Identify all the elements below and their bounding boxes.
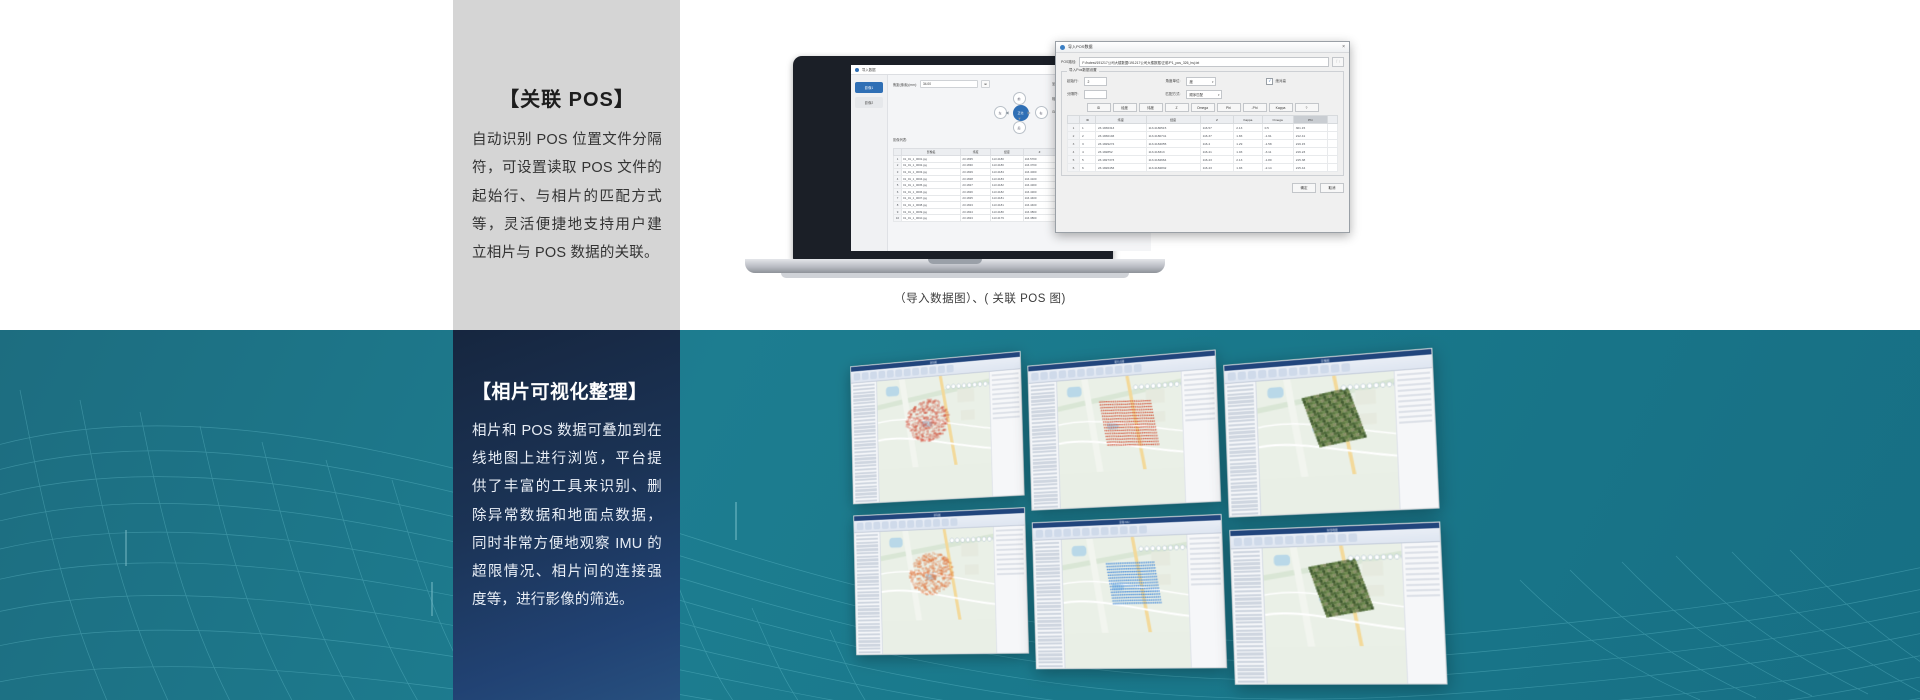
- screenshot-panel-image-imu-map: 影像 IMU: [1032, 514, 1227, 669]
- list-row: [859, 647, 881, 649]
- pos-table-body: 1123.1836313113.4180515116.572.130.5301.…: [1068, 124, 1338, 172]
- panel-properties[interactable]: [1186, 533, 1226, 668]
- list-row: [1232, 512, 1259, 516]
- panel-properties[interactable]: [1181, 369, 1220, 504]
- toolbar-button[interactable]: [862, 372, 869, 380]
- list-row: [856, 545, 878, 548]
- list-row: [857, 552, 879, 555]
- table-row[interactable]: 2223.1830193113.4180741116.371.83-1.9121…: [1068, 132, 1338, 140]
- absolute-height-label: 绝对高: [1275, 79, 1286, 84]
- screenshot-panel-image-map: 影像图: [1223, 348, 1439, 518]
- list-row: [855, 499, 877, 502]
- toolbar-button[interactable]: [1054, 529, 1062, 537]
- toolbar-button[interactable]: [1254, 537, 1263, 546]
- toolbar-button[interactable]: [1238, 371, 1246, 380]
- panel-properties[interactable]: [989, 369, 1024, 497]
- toolbar-button[interactable]: [1139, 525, 1147, 533]
- list-row: [996, 533, 1023, 536]
- list-row: [1031, 406, 1055, 410]
- toolbar-button[interactable]: [870, 371, 877, 379]
- pos-path-row: POS路径: F:/hotest/191217公司大楼数据/191217公司大楼…: [1061, 57, 1344, 67]
- toolbar-button[interactable]: [1045, 529, 1053, 537]
- table-row[interactable]: 3323.1829274113.4184055116.41.29-1.58219…: [1068, 140, 1338, 148]
- list-row: [992, 401, 1019, 405]
- chevron-down-icon-2: ▾: [1218, 93, 1220, 97]
- toolbar-button[interactable]: [857, 522, 864, 530]
- pos-table-col[interactable]: [1068, 116, 1080, 124]
- pos-description: 自动识别 POS 位置文件分隔符，可设置读取 POS 文件的起始行、与相片的匹配…: [472, 126, 662, 267]
- list-row: [857, 559, 879, 562]
- column-assign-button[interactable]: ID: [1087, 103, 1111, 112]
- table-row[interactable]: 1123.1836313113.4180515116.572.130.5301.…: [1068, 124, 1338, 132]
- list-row: [855, 482, 877, 485]
- list-row: [1228, 411, 1254, 415]
- list-row: [856, 537, 878, 540]
- toolbar-button[interactable]: [1228, 372, 1236, 381]
- list-row: [1237, 661, 1264, 664]
- import-pos-dialog[interactable]: 导入POS数据 × POS路径: F:/hotest/191217公司大楼数据/…: [1055, 41, 1350, 233]
- pos-caption-text: （导入数据图）、( 关联 POS 图): [894, 290, 1066, 306]
- toolbar-button[interactable]: [950, 518, 957, 526]
- toolbar-button[interactable]: [865, 522, 872, 530]
- list-row: [1184, 377, 1214, 382]
- compass-right-button[interactable]: 右: [1035, 106, 1048, 119]
- panel-area: [854, 526, 1028, 656]
- list-row: [858, 615, 880, 618]
- visual-description: 相片和 POS 数据可叠加到在线地图上进行浏览，平台提供了丰富的工具来识别、删除…: [472, 417, 662, 615]
- toolbar-button[interactable]: [1063, 529, 1071, 537]
- list-row: [1229, 446, 1255, 450]
- panel-map-view[interactable]: [1062, 535, 1191, 669]
- app-window-title: 导入数据: [862, 67, 876, 72]
- toolbar-button[interactable]: [1244, 537, 1252, 546]
- list-row: [1237, 653, 1264, 656]
- list-row: [858, 633, 880, 636]
- list-row: [1234, 586, 1261, 589]
- toolbar-button[interactable]: [1258, 370, 1266, 379]
- image-table-col[interactable]: 纬度: [961, 149, 991, 156]
- pos-table-col[interactable]: Kappa: [1234, 116, 1262, 124]
- toolbar-button[interactable]: [1049, 371, 1057, 379]
- list-row: [1397, 382, 1430, 387]
- page-title: 【关联 POS】: [472, 88, 662, 112]
- list-row: [1230, 473, 1257, 477]
- toolbar-button[interactable]: [1338, 534, 1347, 543]
- toolbar-button[interactable]: [1320, 365, 1329, 374]
- list-row: [993, 415, 1020, 419]
- list-row: [1237, 672, 1264, 675]
- list-row: [1229, 430, 1255, 434]
- list-row: [1235, 617, 1262, 620]
- chevron-down-icon: ▾: [1212, 80, 1214, 84]
- list-row: [1038, 627, 1062, 630]
- toolbar-button[interactable]: [924, 519, 931, 527]
- pos-table-header-row: ID纬度经度ZKappaOmegaPhi: [1068, 116, 1338, 124]
- absolute-height-checkbox[interactable]: ✓ 绝对高: [1266, 78, 1286, 85]
- list-row: [1039, 665, 1063, 668]
- panel-properties[interactable]: [1401, 542, 1446, 685]
- column-assign-button[interactable]: Phi: [1217, 103, 1241, 112]
- list-row: [1035, 549, 1059, 552]
- list-row: [996, 548, 1023, 551]
- list-row: [1234, 574, 1261, 577]
- column-assign-button[interactable]: Kappa: [1269, 103, 1293, 112]
- list-row: [1034, 502, 1058, 506]
- screenshot-panel-footprint-map: 脚印图: [850, 351, 1024, 504]
- list-row: [1037, 624, 1061, 627]
- list-row: [1238, 680, 1265, 683]
- toolbar-button[interactable]: [1031, 372, 1038, 380]
- pos-caption: （导入数据图）、( 关联 POS 图): [0, 290, 1920, 306]
- list-row: [1405, 562, 1439, 566]
- panel-title: 曝光点图: [1114, 359, 1124, 364]
- list-row: [1237, 649, 1264, 652]
- table-row[interactable]: 4423.182852113.418313116.411.03-3.11216.…: [1068, 148, 1338, 156]
- toolbar-button[interactable]: [921, 367, 928, 375]
- list-row: [1033, 472, 1057, 476]
- image-table-col[interactable]: 经度: [990, 149, 1023, 156]
- toolbar-button[interactable]: [1086, 368, 1094, 376]
- toolbar-button[interactable]: [929, 366, 936, 374]
- toolbar-button[interactable]: [1082, 528, 1090, 536]
- list-row: [1232, 508, 1259, 512]
- list-row: [1190, 547, 1220, 551]
- list-row: [1237, 665, 1264, 668]
- list-row: [993, 406, 1020, 410]
- toolbar-button[interactable]: [1327, 534, 1336, 543]
- toolbar-button[interactable]: [1101, 527, 1109, 535]
- list-row: [1230, 477, 1257, 481]
- visual-text-block: 【相片可视化整理】 相片和 POS 数据可叠加到在线地图上进行浏览，平台提供了丰…: [472, 382, 662, 615]
- pos-settings-legend: 导入Pos数据设置: [1067, 68, 1099, 73]
- list-row: [1185, 397, 1215, 402]
- toolbar-button[interactable]: [1124, 365, 1132, 374]
- panel-image-list[interactable]: [1231, 548, 1268, 684]
- list-row: [996, 538, 1023, 541]
- list-row: [1399, 419, 1432, 424]
- list-row: [1398, 403, 1431, 408]
- toolbar-button[interactable]: [916, 520, 923, 528]
- list-row: [1235, 601, 1262, 604]
- toolbar-button[interactable]: [1091, 527, 1099, 535]
- pos-path-input[interactable]: F:/hotest/191217公司大楼数据/191217公司大楼数据/正射/P…: [1079, 57, 1329, 67]
- list-row: [1234, 582, 1261, 585]
- list-row: [1236, 645, 1263, 648]
- toolbar-button[interactable]: [1129, 526, 1137, 534]
- list-row: [992, 377, 1019, 382]
- toolbar-button[interactable]: [1289, 367, 1298, 376]
- dialog-titlebar: 导入POS数据 ×: [1056, 42, 1349, 53]
- column-assign-button[interactable]: Z: [1165, 103, 1189, 112]
- list-row: [1191, 577, 1221, 580]
- toolbar-button[interactable]: [899, 520, 906, 528]
- list-row: [1184, 392, 1214, 397]
- toolbar-button[interactable]: [1341, 363, 1350, 372]
- list-row: [1038, 646, 1062, 649]
- toolbar-button[interactable]: [1316, 535, 1325, 544]
- list-row: [1037, 601, 1061, 604]
- list-row: [1230, 458, 1257, 462]
- list-row: [1037, 616, 1061, 619]
- angle-unit-select[interactable]: 度 ▾: [1186, 77, 1216, 86]
- panel-image-list[interactable]: [851, 381, 879, 504]
- list-row: [1036, 557, 1060, 560]
- toolbar-button[interactable]: [912, 368, 919, 376]
- toolbar-button[interactable]: [1278, 368, 1287, 377]
- toolbar-button[interactable]: [1073, 528, 1081, 536]
- list-row: [1038, 654, 1062, 657]
- settings-row-1: 起始行: 2 角度单位: 度 ▾ ✓ 绝对高: [1067, 77, 1338, 86]
- list-row: [1236, 637, 1263, 640]
- panel-properties[interactable]: [1394, 368, 1439, 510]
- toolbar-button[interactable]: [1306, 535, 1315, 544]
- panel-area: [1033, 533, 1226, 669]
- list-row: [996, 543, 1023, 546]
- list-row: [997, 563, 1024, 566]
- toolbar-button[interactable]: [1348, 533, 1357, 542]
- screenshot-panel-image-footprint-dense: 脚印图: [853, 507, 1029, 655]
- list-row: [1231, 493, 1258, 497]
- list-row: [1406, 583, 1440, 586]
- list-row: [1036, 579, 1060, 582]
- sidebar-item-image2[interactable]: 影像2: [855, 97, 883, 108]
- list-row: [1191, 572, 1221, 575]
- toolbar-button[interactable]: [1299, 366, 1308, 375]
- panel-map-view[interactable]: [877, 372, 992, 503]
- toolbar-button[interactable]: [1285, 536, 1294, 545]
- panel-title: 脚印图: [930, 360, 937, 364]
- list-row: [857, 555, 879, 558]
- list-row: [1184, 382, 1214, 387]
- column-assign-button[interactable]: -Phi: [1243, 103, 1267, 112]
- list-row: [1037, 609, 1061, 612]
- list-row: [1190, 552, 1220, 555]
- toolbar-button[interactable]: [1268, 369, 1277, 378]
- list-row: [1038, 642, 1062, 645]
- list-row: [1185, 417, 1215, 421]
- match-mode-select[interactable]: 顺序匹配 ▾: [1186, 90, 1222, 99]
- list-row: [858, 644, 880, 647]
- cancel-button[interactable]: 取消: [1320, 183, 1344, 193]
- compass-left-arrow-icon: ◀: [1006, 110, 1009, 115]
- panel-area: [1225, 368, 1439, 518]
- list-row: [858, 605, 880, 608]
- confirm-button[interactable]: 确定: [1292, 183, 1316, 193]
- list-row: [1233, 562, 1260, 565]
- toolbar-button[interactable]: [1331, 364, 1340, 373]
- pos-table-col[interactable]: 经度: [1146, 116, 1200, 124]
- list-row: [1406, 578, 1440, 581]
- toolbar-button[interactable]: [1310, 366, 1319, 375]
- toolbar-button[interactable]: [904, 368, 911, 376]
- list-row: [1233, 554, 1260, 557]
- toolbar-button[interactable]: [1105, 366, 1113, 374]
- toolbar-button[interactable]: [907, 520, 914, 528]
- focal-picker-icon[interactable]: ⊞: [981, 80, 990, 88]
- pos-table-col[interactable]: Omega: [1262, 116, 1293, 124]
- screenshot-panel-exposure-point-map: 曝光点图: [1027, 349, 1221, 510]
- list-row: [857, 591, 879, 594]
- toolbar-button[interactable]: [873, 522, 880, 530]
- toolbar-button[interactable]: [890, 521, 897, 529]
- list-row: [1399, 409, 1432, 414]
- list-row: [1190, 567, 1220, 570]
- toolbar-button[interactable]: [947, 365, 954, 373]
- toolbar-button[interactable]: [938, 365, 945, 373]
- angle-unit-label: 角度单位:: [1165, 79, 1180, 84]
- column-assign-button[interactable]: Omega: [1191, 103, 1215, 112]
- image-list-label: 影像列表:: [893, 137, 907, 142]
- list-row: [1229, 434, 1255, 438]
- list-row: [992, 382, 1019, 386]
- list-row: [997, 567, 1024, 570]
- toolbar-button[interactable]: [1059, 370, 1067, 378]
- list-row: [1227, 388, 1253, 392]
- pos-preview-table[interactable]: ID纬度经度ZKappaOmegaPhi 1123.1836313113.418…: [1067, 115, 1338, 172]
- folder-browse-icon[interactable]: 🗀: [1332, 57, 1344, 67]
- start-row-label: 起始行:: [1067, 79, 1078, 84]
- toolbar-button[interactable]: [1134, 364, 1142, 373]
- list-row: [1037, 598, 1061, 601]
- list-row: [857, 594, 879, 597]
- list-row: [857, 587, 879, 590]
- toolbar-button[interactable]: [1295, 535, 1304, 544]
- list-row: [1036, 572, 1060, 575]
- panel-map-view[interactable]: [880, 527, 996, 655]
- list-row: [1229, 442, 1255, 446]
- toolbar-button[interactable]: [854, 373, 861, 381]
- list-row: [1034, 505, 1058, 508]
- toolbar-button[interactable]: [1036, 530, 1044, 538]
- panel-properties[interactable]: [993, 526, 1028, 654]
- panel-map-view[interactable]: [1263, 543, 1408, 684]
- list-row: [1037, 605, 1061, 608]
- focal-input[interactable]: 34.00: [920, 80, 978, 88]
- pos-table-col[interactable]: 纬度: [1095, 116, 1146, 124]
- pos-table-col[interactable]: ID: [1080, 116, 1096, 124]
- table-row[interactable]: 5523.1827373113.4182664116.432.13-1.8021…: [1068, 156, 1338, 164]
- toolbar-button[interactable]: [933, 519, 940, 527]
- list-row: [1038, 650, 1062, 653]
- checkbox-icon: ✓: [1266, 78, 1273, 85]
- list-row: [1185, 412, 1215, 417]
- list-row: [1236, 641, 1263, 644]
- toolbar-button[interactable]: [1264, 537, 1273, 546]
- toolbar-button[interactable]: [1077, 369, 1085, 377]
- toolbar-button[interactable]: [1115, 365, 1123, 374]
- dialog-app-icon: [1060, 45, 1065, 50]
- list-row: [1397, 372, 1430, 377]
- panel-image-list[interactable]: [854, 532, 883, 655]
- list-row: [857, 562, 879, 565]
- toolbar-button[interactable]: [1110, 527, 1118, 535]
- list-row: [858, 623, 880, 626]
- list-row: [1189, 537, 1219, 541]
- list-row: [1235, 613, 1262, 616]
- toolbar-button[interactable]: [1248, 371, 1256, 380]
- pos-table-col[interactable]: Z: [1200, 116, 1234, 124]
- list-row: [855, 468, 877, 472]
- toolbar-button[interactable]: [882, 521, 889, 529]
- list-row: [992, 372, 1019, 377]
- toolbar-button[interactable]: [1275, 536, 1284, 545]
- image-table-col[interactable]: Z: [1023, 149, 1056, 156]
- list-row: [1235, 598, 1262, 601]
- panel-area: [851, 369, 1023, 504]
- toolbar-button[interactable]: [887, 370, 894, 378]
- list-row: [858, 612, 880, 615]
- list-row: [1231, 496, 1258, 500]
- pos-table-col[interactable]: Phi: [1293, 116, 1327, 124]
- panel-map-view[interactable]: [1057, 372, 1185, 510]
- list-row: [1397, 377, 1430, 382]
- list-row: [1406, 572, 1440, 576]
- toolbar-button[interactable]: [1040, 372, 1048, 380]
- toolbar-button[interactable]: [895, 369, 902, 377]
- compass-down-button[interactable]: 后: [1013, 121, 1026, 134]
- list-row: [1034, 487, 1058, 491]
- panel-image-list[interactable]: [1033, 540, 1065, 670]
- sidebar-item-image1[interactable]: 影像1: [855, 82, 883, 93]
- list-row: [857, 566, 879, 569]
- toolbar-button[interactable]: [1234, 538, 1242, 547]
- list-row: [858, 608, 880, 611]
- start-row-input[interactable]: 2: [1084, 77, 1107, 86]
- list-row: [1038, 657, 1062, 660]
- app-sidebar: 影像1 影像2: [851, 75, 888, 251]
- list-row: [1405, 545, 1438, 549]
- list-row: [858, 626, 880, 629]
- toolbar-button[interactable]: [1120, 526, 1128, 534]
- panel-title: 影像 IMU: [1119, 520, 1129, 524]
- image-table-col[interactable]: 影像名: [902, 149, 961, 156]
- list-row: [1235, 605, 1262, 608]
- screenshot-wall: 脚印图 曝光点图 影像图: [850, 330, 1461, 691]
- column-assign-button[interactable]: ?: [1295, 103, 1319, 112]
- table-row[interactable]: 6623.1826453113.4182832116.431.93-2.1421…: [1068, 164, 1338, 172]
- list-row: [857, 573, 879, 576]
- list-row: [858, 630, 880, 633]
- list-row: [1036, 564, 1060, 567]
- list-row: [857, 569, 879, 572]
- separator-label: 分隔符:: [1067, 92, 1078, 97]
- pos-settings-group: 导入Pos数据设置 起始行: 2 角度单位: 度 ▾ ✓ 绝对: [1061, 71, 1344, 176]
- list-row: [1406, 589, 1440, 592]
- separator-input[interactable]: [1084, 90, 1107, 99]
- close-icon[interactable]: ×: [1342, 45, 1345, 50]
- column-assign-button[interactable]: 纬度: [1139, 103, 1163, 112]
- dialog-body: POS路径: F:/hotest/191217公司大楼数据/191217公司大楼…: [1056, 53, 1349, 180]
- column-assign-button[interactable]: 经度: [1113, 103, 1137, 112]
- pos-text-block: 【关联 POS】 自动识别 POS 位置文件分隔符，可设置读取 POS 文件的起…: [472, 88, 662, 267]
- panel-image-list[interactable]: [1225, 382, 1261, 518]
- panel-image-list[interactable]: [1029, 382, 1061, 511]
- list-row: [858, 601, 880, 604]
- list-row: [992, 391, 1019, 395]
- toolbar-button[interactable]: [942, 518, 949, 526]
- panel-map-view[interactable]: [1256, 371, 1399, 516]
- pos-table-col[interactable]: [1328, 116, 1338, 124]
- toolbar-button[interactable]: [1096, 367, 1104, 375]
- panel-title: 在线地图: [1327, 527, 1338, 532]
- toolbar-button[interactable]: [1068, 369, 1076, 377]
- list-row: [1398, 387, 1431, 392]
- panel-title: 脚印图: [934, 513, 941, 517]
- app-logo-icon: [855, 68, 859, 72]
- list-row: [1234, 570, 1261, 573]
- toolbar-button[interactable]: [878, 371, 885, 379]
- list-row: [1233, 558, 1260, 561]
